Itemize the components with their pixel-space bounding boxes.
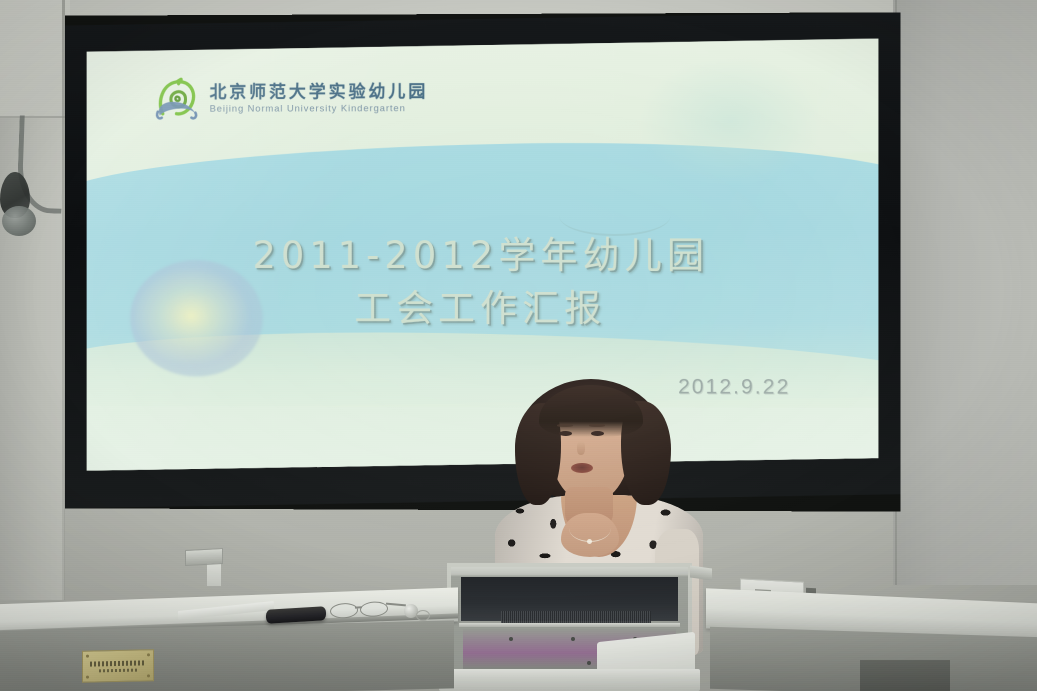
- key-ring: [416, 610, 430, 621]
- right-table-shadow-panel: [860, 660, 950, 691]
- org-name-cn: 北京师范大学实验幼儿园: [210, 84, 429, 102]
- keys-with-keyring: [404, 604, 430, 622]
- presenter-eye-left: [559, 431, 572, 436]
- slide-bottom-band: [87, 406, 879, 473]
- plaque-text-line-2: [99, 668, 137, 672]
- photo-scene: 北京师范大学实验幼儿园 Beijing Normal University Ki…: [0, 0, 1037, 691]
- podium-screw: [571, 637, 575, 641]
- eyeglasses-lens-right: [360, 601, 388, 617]
- presenter-eyebrow-left: [557, 424, 573, 427]
- podium: [447, 563, 692, 691]
- projection-screen-surface: 北京师范大学实验幼儿园 Beijing Normal University Ki…: [87, 39, 879, 474]
- plaque-screw: [147, 653, 150, 656]
- presenter-necklace: [569, 515, 611, 542]
- plaque-screw: [86, 676, 89, 679]
- plaque-text-line-1: [90, 660, 146, 666]
- presenter-nose: [577, 441, 585, 455]
- presenter-eyebrow-right: [589, 424, 605, 427]
- plaque-screw: [147, 674, 150, 677]
- plaque-screw: [86, 655, 89, 658]
- podium-screw: [509, 637, 513, 641]
- podium-base-lip: [439, 669, 700, 691]
- slide-bubble-decoration: [639, 56, 823, 187]
- presenter-necklace-pendant: [587, 539, 592, 544]
- equipment-id-plaque: [82, 649, 154, 683]
- left-desk-body: [0, 620, 454, 691]
- podium-upper-cavity: [461, 577, 678, 621]
- podium-shelf-edge: [459, 623, 680, 627]
- slide-title: 2011-2012学年幼儿园 工会工作汇报: [87, 230, 879, 336]
- presenter-mouth: [571, 463, 593, 473]
- wall-lamp-head-icon: [2, 206, 36, 236]
- spiral-snail-logo-icon: [153, 75, 201, 123]
- presenter-eye-right: [591, 431, 604, 436]
- wall-bracket: [185, 548, 223, 566]
- slide-title-line2: 工会工作汇报: [87, 282, 879, 335]
- room-wall-right: [893, 0, 1037, 585]
- eyeglasses-lens-left: [330, 602, 358, 618]
- eyeglasses-temple: [386, 603, 406, 606]
- ceiling-corner: [0, 0, 70, 118]
- slide-title-line1: 2011-2012学年幼儿园: [253, 234, 710, 277]
- podium-screw: [587, 661, 591, 665]
- slide-logo-block: 北京师范大学实验幼儿园 Beijing Normal University Ki…: [153, 75, 428, 124]
- slide-logo-text: 北京师范大学实验幼儿园 Beijing Normal University Ki…: [210, 84, 429, 114]
- projection-screen-frame: 北京师范大学实验幼儿园 Beijing Normal University Ki…: [65, 12, 901, 511]
- org-name-en: Beijing Normal University Kindergarten: [210, 104, 429, 114]
